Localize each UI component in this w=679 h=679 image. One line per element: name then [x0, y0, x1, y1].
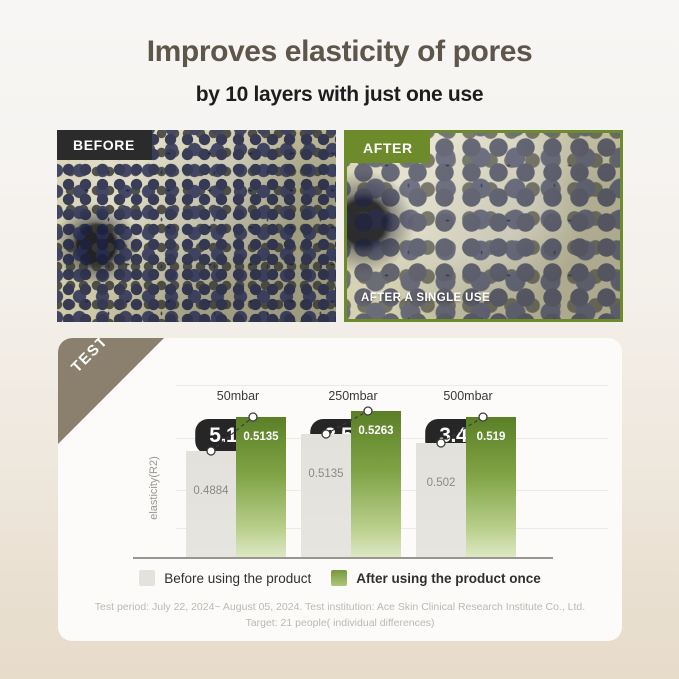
bar-after: 0.5263	[351, 411, 401, 557]
category-label: 500mbar	[416, 389, 520, 403]
legend-label-before: Before using the product	[164, 571, 311, 586]
page-subtitle: by 10 layers with just one use	[0, 83, 679, 107]
legend-item-after: After using the product once	[331, 570, 541, 586]
gridline	[176, 385, 608, 386]
page-title: Improves elasticity of pores	[0, 33, 679, 71]
x-axis-line	[133, 557, 553, 559]
bar-value-after: 0.5263	[351, 425, 401, 437]
photo-caption-after: AFTER A SINGLE USE	[361, 292, 490, 304]
footnote-line-2: Target: 21 people( individual difference…	[80, 616, 600, 632]
legend-swatch-before-icon	[139, 570, 155, 586]
category-label: 250mbar	[301, 389, 405, 403]
bar-before: 0.4884	[186, 451, 236, 557]
footnote-line-1: Test period: July 22, 2024~ August 05, 2…	[80, 600, 600, 616]
legend-label-after: After using the product once	[356, 571, 541, 586]
bar-value-after: 0.5135	[236, 431, 286, 443]
bar-value-before: 0.502	[416, 477, 466, 489]
bar-before: 0.502	[416, 443, 466, 557]
y-axis-label: elasticity(R2)	[148, 456, 160, 520]
legend-swatch-after-icon	[331, 570, 347, 586]
bar-value-before: 0.4884	[186, 485, 236, 497]
photo-tag-after: AFTER	[347, 133, 430, 163]
before-after-photos: BEFORE AFTER AFTER A SINGLE USE	[57, 130, 623, 322]
bar-before: 0.5135	[301, 434, 351, 557]
legend-item-before: Before using the product	[139, 570, 311, 586]
photo-tag-before: BEFORE	[57, 130, 152, 160]
chart-legend: Before using the product After using the…	[58, 570, 622, 586]
category-label: 50mbar	[186, 389, 290, 403]
page-header: Improves elasticity of pores by 10 layer…	[0, 0, 679, 107]
test-result-panel: TEST elasticity(R2) 50mbar 5.14% 0.4884 …	[58, 338, 622, 641]
bar-after: 0.519	[466, 417, 516, 557]
chart-footnote: Test period: July 22, 2024~ August 05, 2…	[80, 600, 600, 632]
bar-after: 0.5135	[236, 417, 286, 557]
photo-before: BEFORE	[57, 130, 336, 322]
bar-value-after: 0.519	[466, 431, 516, 443]
photo-after: AFTER AFTER A SINGLE USE	[344, 130, 623, 322]
bar-chart: elasticity(R2) 50mbar 5.14% 0.4884 0.513…	[58, 338, 622, 641]
bar-value-before: 0.5135	[301, 468, 351, 480]
